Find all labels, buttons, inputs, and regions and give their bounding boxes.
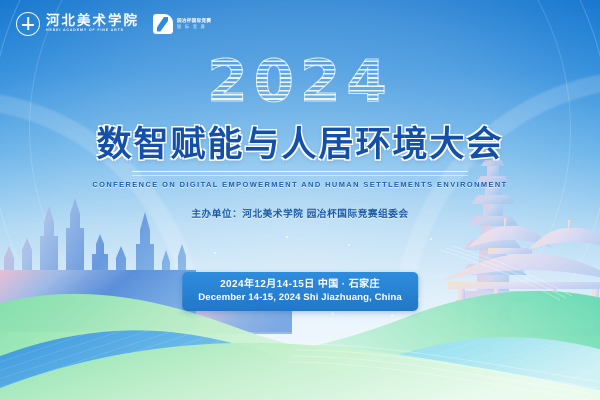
conference-title-en: CONFERENCE ON DIGITAL EMPOWERMENT AND HU… bbox=[0, 180, 600, 189]
year-heading-wrap: 2024 bbox=[0, 52, 600, 110]
organizer-line: 主办单位：河北美术学院 园冶杯国际竞赛组委会 bbox=[0, 206, 600, 220]
academy-logo[interactable]: 河北美术学院 HEBEI ACADEMY OF FINE ARTS bbox=[16, 12, 139, 36]
banner-content: 河北美术学院 HEBEI ACADEMY OF FINE ARTS 园冶杯国际竞… bbox=[0, 0, 600, 400]
date-cn: 2024年12月14-15日 中国 · 石家庄 bbox=[198, 278, 402, 292]
title-block: 数智赋能与人居环境大会 CONFERENCE ON DIGITAL EMPOWE… bbox=[0, 126, 600, 189]
yuanye-cup-mark-icon bbox=[153, 14, 173, 34]
partner-name-sub: 国 际 竞 赛 bbox=[177, 25, 211, 29]
partner-logo[interactable]: 园冶杯国际竞赛 国 际 竞 赛 bbox=[153, 14, 211, 34]
date-en: December 14-15, 2024 Shi Jiazhuang, Chin… bbox=[198, 292, 402, 305]
partner-name-cn: 园冶杯国际竞赛 bbox=[177, 19, 211, 24]
conference-title-cn: 数智赋能与人居环境大会 bbox=[0, 126, 600, 165]
date-badge: 2024年12月14-15日 中国 · 石家庄 December 14-15, … bbox=[182, 272, 418, 311]
academy-seal-icon bbox=[16, 12, 40, 36]
year-heading: 2024 bbox=[207, 52, 392, 110]
conference-banner: 河北美术学院 HEBEI ACADEMY OF FINE ARTS 园冶杯国际竞… bbox=[0, 0, 600, 400]
logo-row: 河北美术学院 HEBEI ACADEMY OF FINE ARTS 园冶杯国际竞… bbox=[16, 12, 211, 36]
academy-name-en: HEBEI ACADEMY OF FINE ARTS bbox=[46, 29, 139, 33]
academy-name-cn: 河北美术学院 bbox=[46, 15, 139, 29]
title-divider bbox=[132, 171, 468, 176]
